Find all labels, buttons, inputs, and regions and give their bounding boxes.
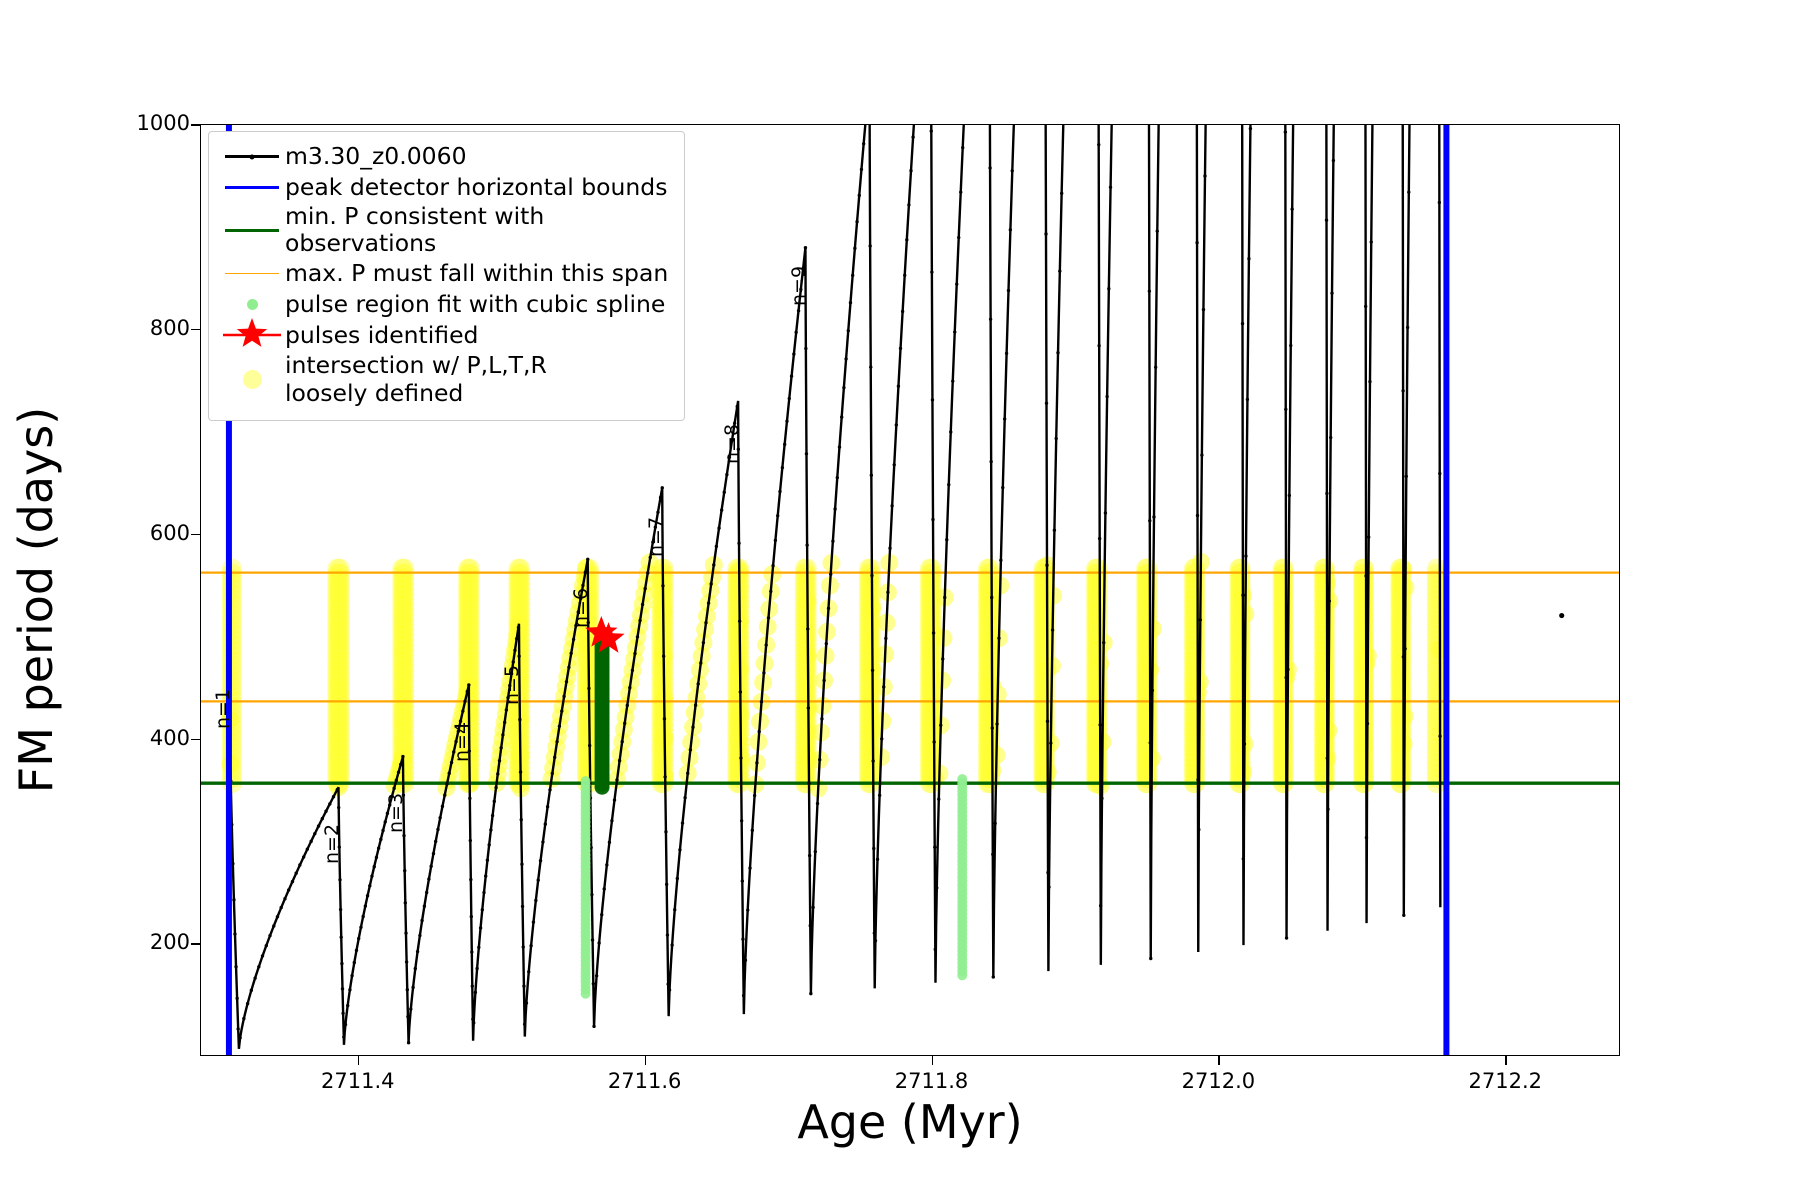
legend-label: intersection w/ P,L,T,R loosely defined <box>285 352 547 407</box>
legend-label: pulses identified <box>285 322 478 349</box>
x-tick-label: 2712.2 <box>1445 1069 1565 1093</box>
x-tick-label: 2711.6 <box>585 1069 705 1093</box>
cycle-label-n-7: n=7 <box>645 517 667 557</box>
legend-entry[interactable]: pulse region fit with cubic spline <box>219 289 674 320</box>
legend-entry[interactable]: m3.30_z0.0060 <box>219 141 674 172</box>
y-tick-label: 1000 <box>120 111 190 135</box>
figure-canvas: FM period (days) Age (Myr) 2004006008001… <box>0 0 1800 1200</box>
legend-line-swatch <box>225 186 279 189</box>
cycle-label-n-5: n=5 <box>501 665 523 705</box>
legend-entry[interactable]: pulses identified <box>219 320 674 351</box>
legend-entry[interactable]: intersection w/ P,L,T,R loosely defined <box>219 351 674 409</box>
legend-label: peak detector horizontal bounds <box>285 174 667 201</box>
legend-line-swatch <box>225 229 279 232</box>
pulse-region-layer <box>595 630 610 795</box>
legend-line-swatch <box>225 273 279 274</box>
y-axis-title: FM period (days) <box>9 407 63 793</box>
y-tick-label: 800 <box>120 316 190 340</box>
y-tick-mark <box>191 534 200 536</box>
y-tick-mark <box>191 124 200 126</box>
legend[interactable]: m3.30_z0.0060peak detector horizontal bo… <box>208 131 685 421</box>
legend-star-swatch <box>221 318 283 352</box>
x-axis-title: Age (Myr) <box>797 1095 1022 1149</box>
x-tick-mark <box>1505 1056 1507 1065</box>
legend-point-marker <box>250 154 255 159</box>
legend-label: pulse region fit with cubic spline <box>285 291 665 318</box>
cycle-label-n-2: n=2 <box>321 824 343 864</box>
intersection-points-layer <box>221 553 1449 797</box>
cycle-label-n-8: n=8 <box>721 424 743 464</box>
legend-entry[interactable]: min. P consistent with observations <box>219 203 674 258</box>
x-tick-label: 2712.0 <box>1158 1069 1278 1093</box>
legend-label: m3.30_z0.0060 <box>285 143 467 170</box>
cycle-label-n-9: n=9 <box>788 266 810 306</box>
x-tick-label: 2711.4 <box>298 1069 418 1093</box>
legend-entry[interactable]: peak detector horizontal bounds <box>219 172 674 203</box>
legend-label: max. P must fall within this span <box>285 260 668 287</box>
y-tick-mark <box>191 943 200 945</box>
legend-entry[interactable]: max. P must fall within this span <box>219 258 674 289</box>
legend-dot-swatch <box>247 299 258 310</box>
legend-label: min. P consistent with observations <box>285 203 674 258</box>
x-tick-mark <box>932 1056 934 1065</box>
cycle-label-n-3: n=3 <box>385 793 407 833</box>
x-tick-mark <box>358 1056 360 1065</box>
y-tick-label: 600 <box>120 521 190 545</box>
cycle-label-n-4: n=4 <box>451 721 473 761</box>
x-tick-mark <box>1218 1056 1220 1065</box>
spline-points-layer <box>581 774 968 999</box>
cycle-label-n-1: n=1 <box>212 689 234 729</box>
y-tick-mark <box>191 739 200 741</box>
legend-dot-swatch <box>243 370 262 389</box>
y-tick-label: 400 <box>120 726 190 750</box>
x-tick-label: 2711.8 <box>872 1069 992 1093</box>
x-tick-mark <box>645 1056 647 1065</box>
y-tick-label: 200 <box>120 930 190 954</box>
y-tick-mark <box>191 329 200 331</box>
cycle-label-n-6: n=6 <box>570 588 592 628</box>
